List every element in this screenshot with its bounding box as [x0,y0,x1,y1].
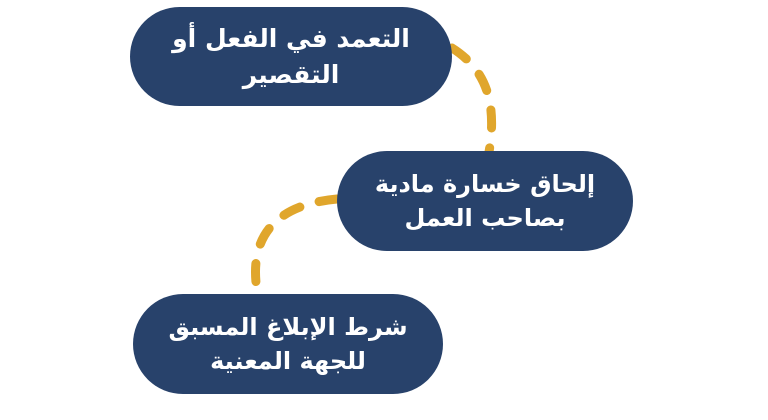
flow-node-prior-notification-label: شرط الإبلاغ المسبق للجهة المعنية [168,310,407,378]
connector-1-dashed-curve [452,48,492,152]
flow-node-financial-loss[interactable]: إلحاق خسارة مادية بصاحب العمل [337,151,633,251]
flow-node-intent-label: التعمد في الفعل أو التقصير [172,21,410,92]
flow-node-financial-loss-label: إلحاق خسارة مادية بصاحب العمل [375,167,595,235]
flow-node-intent[interactable]: التعمد في الفعل أو التقصير [130,7,452,106]
connector-2-dashed-curve [255,199,337,296]
diagram-canvas: التعمد في الفعل أو التقصير إلحاق خسارة م… [0,0,768,420]
flow-node-prior-notification[interactable]: شرط الإبلاغ المسبق للجهة المعنية [133,294,443,394]
